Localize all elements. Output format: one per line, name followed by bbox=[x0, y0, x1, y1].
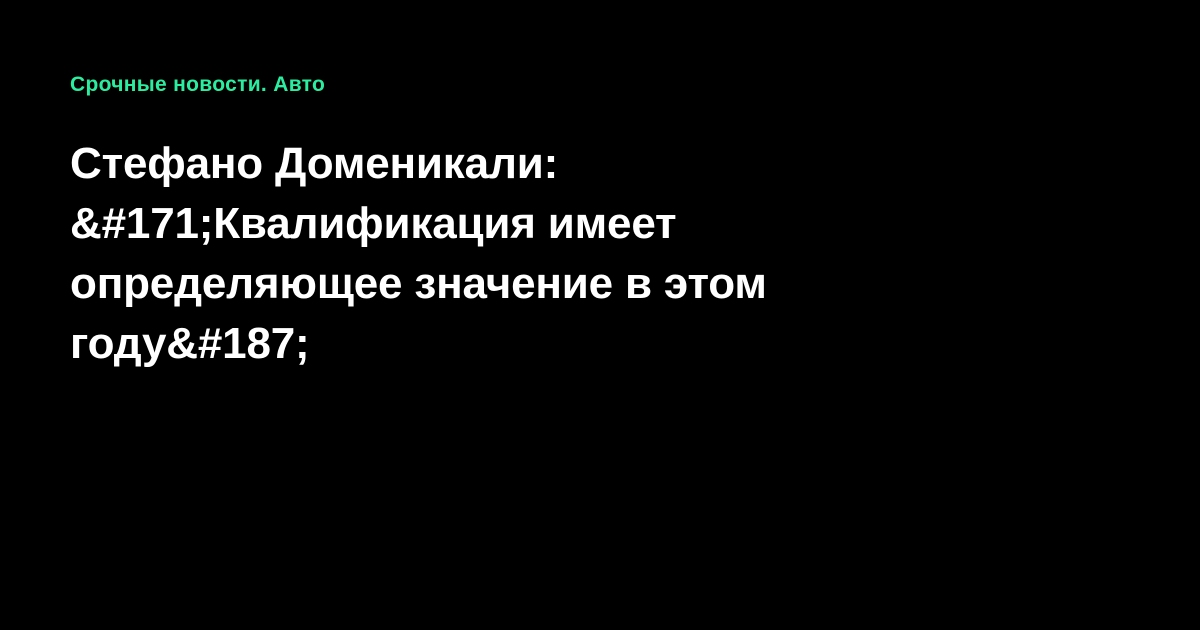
headline-line-2: &#171;Квалификация имеет bbox=[70, 194, 920, 254]
flag-square bbox=[0, 507, 368, 630]
news-share-card: Срочные новости. Авто Стефано Доменикали… bbox=[0, 0, 1200, 630]
headline-line-4: году&#187; bbox=[70, 314, 920, 374]
flag-square bbox=[0, 507, 306, 630]
card-content: Срочные новости. Авто Стефано Доменикали… bbox=[70, 72, 920, 374]
checkered-flag-squares bbox=[0, 507, 368, 630]
headline-line-3: определяющее значение в этом bbox=[70, 254, 920, 314]
category-kicker: Срочные новости. Авто bbox=[70, 72, 920, 98]
flag-square bbox=[0, 507, 119, 630]
headline: Стефано Доменикали: &#171;Квалификация и… bbox=[70, 134, 920, 374]
flag-square bbox=[0, 507, 181, 630]
headline-line-1: Стефано Доменикали: bbox=[70, 134, 920, 194]
flag-square bbox=[0, 507, 243, 630]
